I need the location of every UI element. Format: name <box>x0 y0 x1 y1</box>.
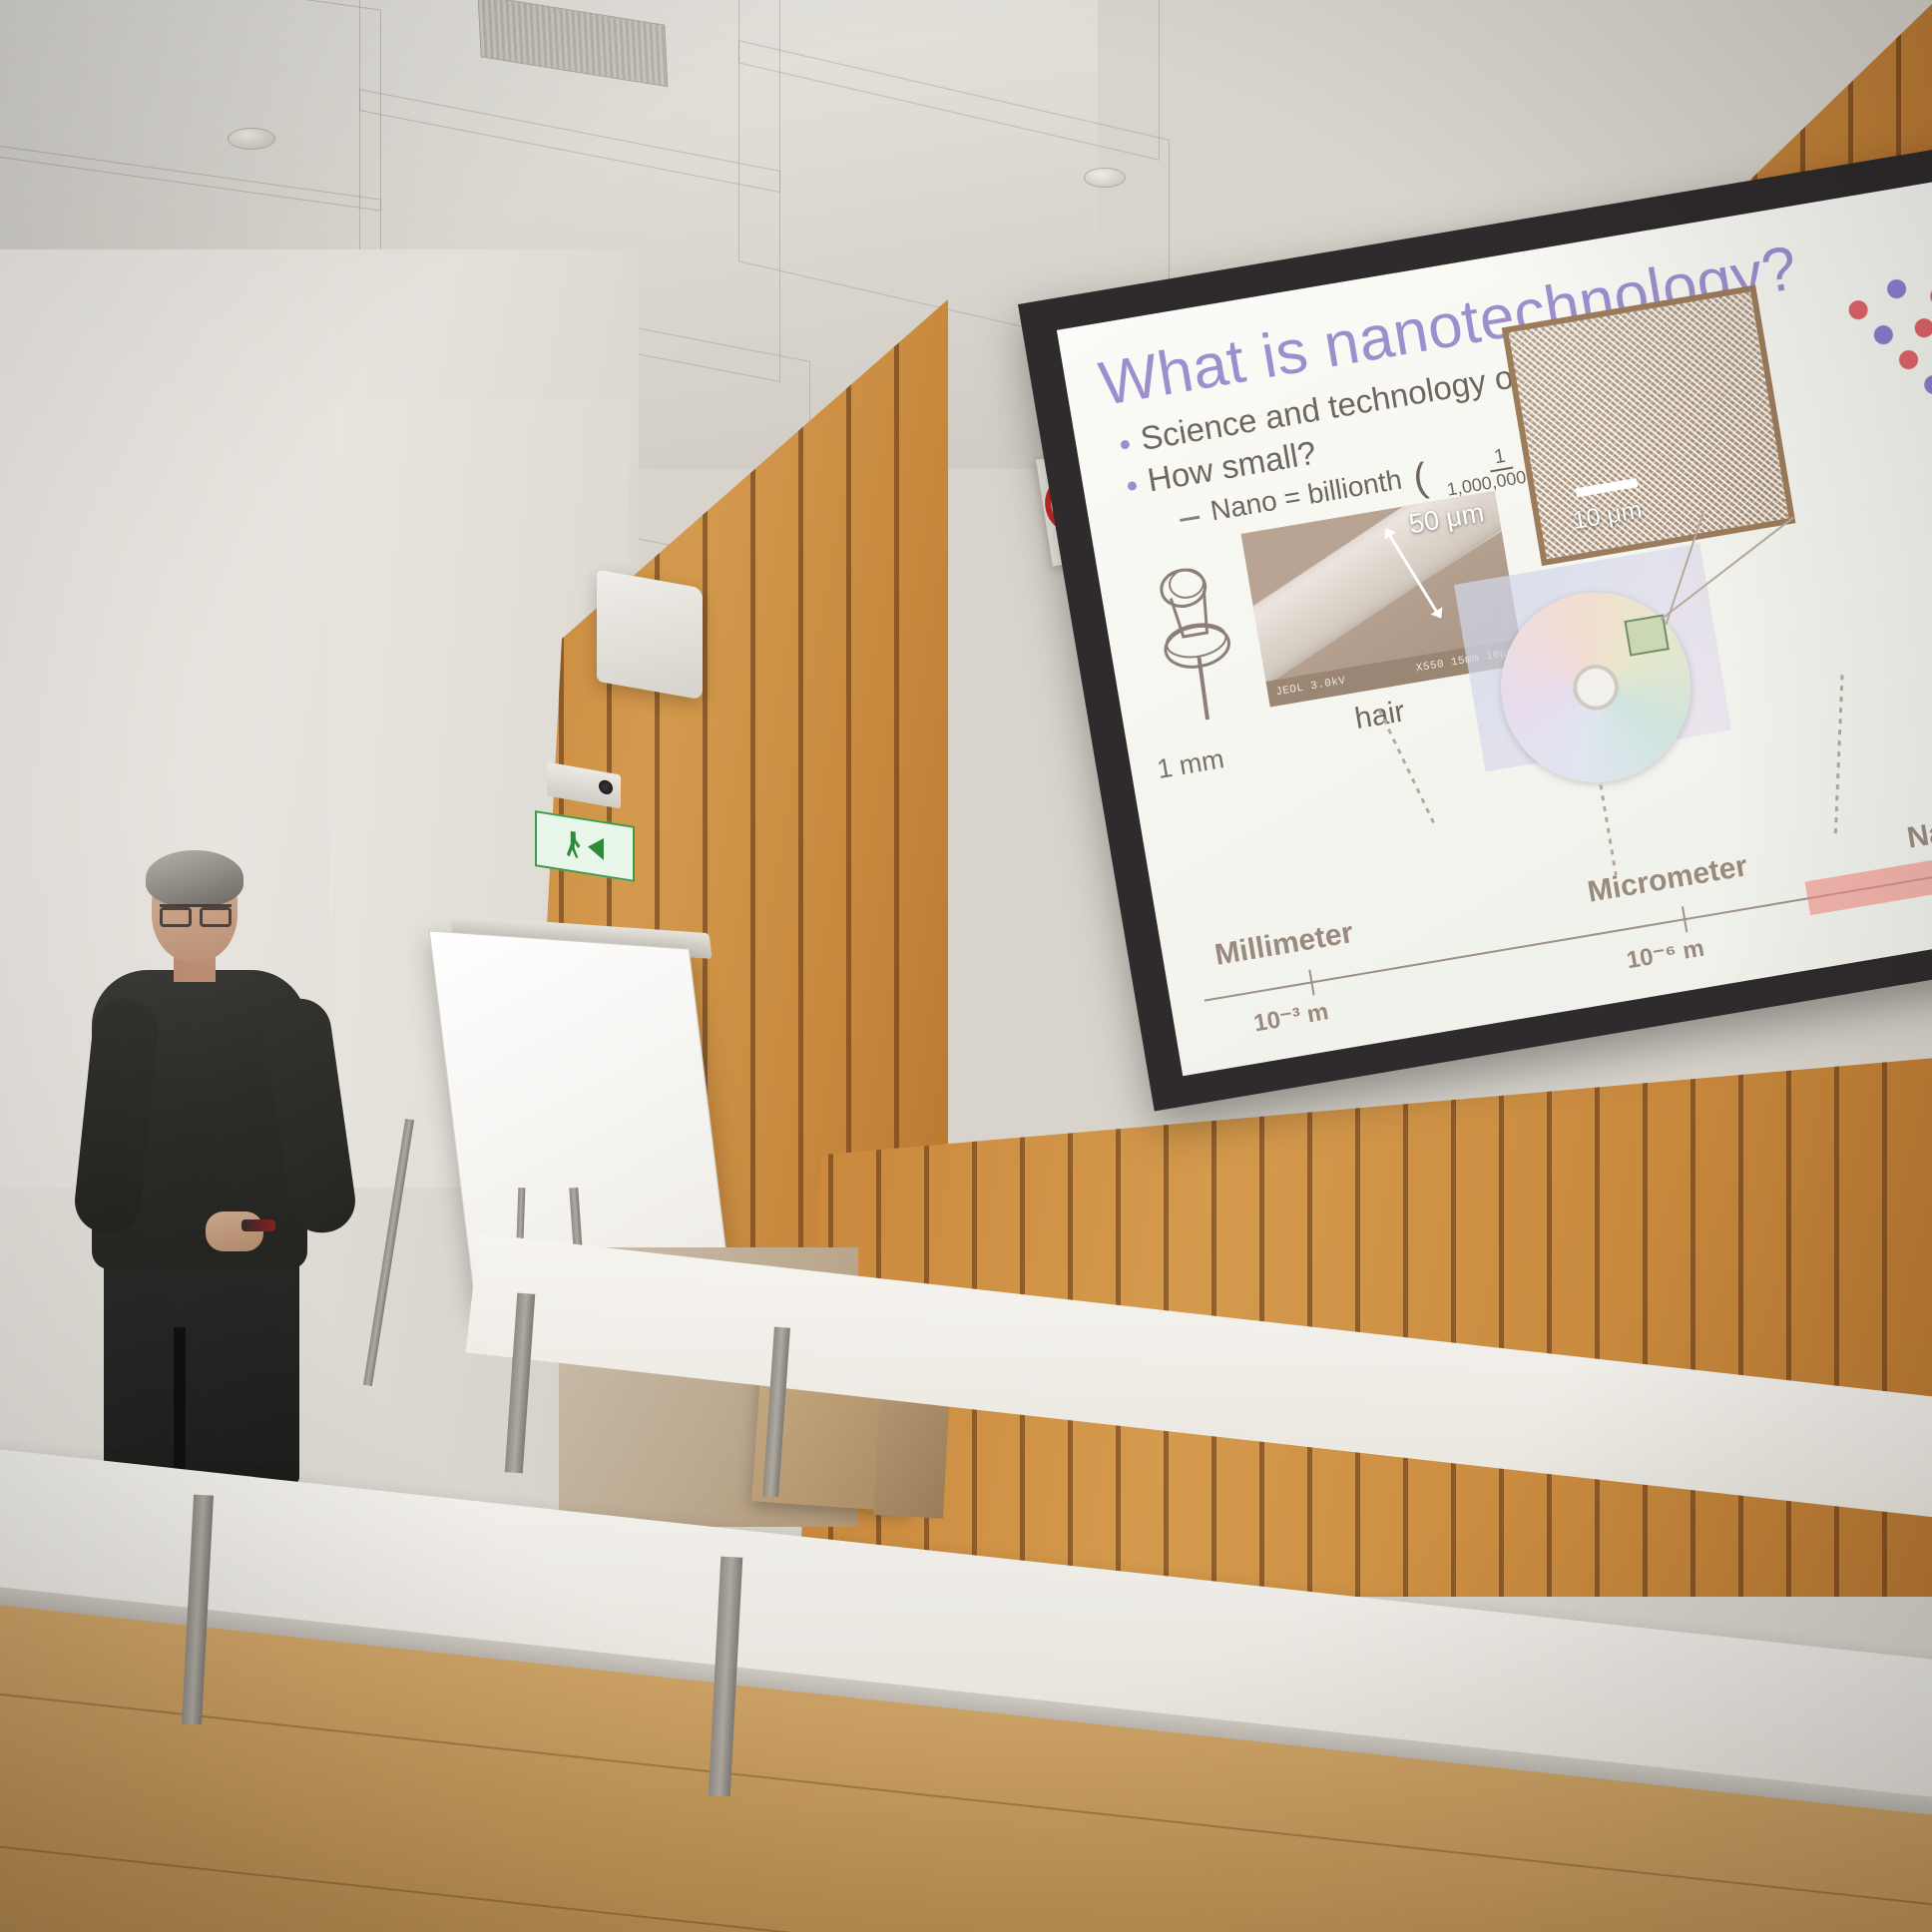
afm-scale-label: 10 μm <box>1571 496 1645 536</box>
slide-content: What is nanotechnology? Science and tech… <box>1057 175 1932 1076</box>
scale-exponent-millimeter: 10⁻³ m <box>1251 997 1330 1038</box>
scale-bar-icon <box>1576 478 1639 497</box>
sem-meta-left: JEOL 3.0kV <box>1275 676 1347 700</box>
presenter <box>78 858 347 1477</box>
scale-label-millimeter: Millimeter <box>1212 916 1356 973</box>
scale-exponent-micrometer: 10⁻⁶ m <box>1625 934 1706 976</box>
length-scale-ruler: Millimeter 10⁻³ m Micrometer 10⁻⁶ m Nano… <box>1194 786 1932 1047</box>
presentation-remote <box>241 1219 275 1231</box>
bullet-icon <box>1120 439 1130 449</box>
paren-open: ( <box>1411 459 1430 497</box>
afm-surface-texture: 10 μm <box>1502 284 1796 566</box>
scale-label-nanometer: Nanometer <box>1905 796 1932 856</box>
wall-speaker <box>597 570 703 701</box>
presenter-leg-gap <box>174 1327 186 1487</box>
projection-screen: What is nanotechnology? Science and tech… <box>1018 138 1932 1111</box>
running-man-icon <box>566 830 582 859</box>
dash-icon <box>1180 516 1200 522</box>
pushpin-illustration <box>1138 555 1252 727</box>
presenter-hand <box>206 1211 263 1251</box>
connector-dots <box>1378 709 1438 828</box>
pin-scale-label: 1 mm <box>1155 743 1226 785</box>
lens-icon <box>599 779 613 795</box>
screen-surface: What is nanotechnology? Science and tech… <box>1057 175 1932 1076</box>
arrow-icon <box>588 835 604 860</box>
presenter-hair <box>146 850 243 906</box>
cd-zoom-region <box>1624 614 1669 656</box>
lecture-hall-photo: NO FOOD What is nanotechnology? Science … <box>0 0 1932 1932</box>
smoke-detector-icon <box>1084 168 1126 188</box>
bullet-icon <box>1127 481 1137 491</box>
connector-dots <box>1599 784 1617 875</box>
scale-label-micrometer: Micrometer <box>1585 849 1749 909</box>
presenter-legs <box>104 1249 299 1485</box>
smoke-detector-icon <box>228 128 275 150</box>
connector-dots <box>1834 675 1844 838</box>
eyeglasses-icon <box>160 904 232 921</box>
